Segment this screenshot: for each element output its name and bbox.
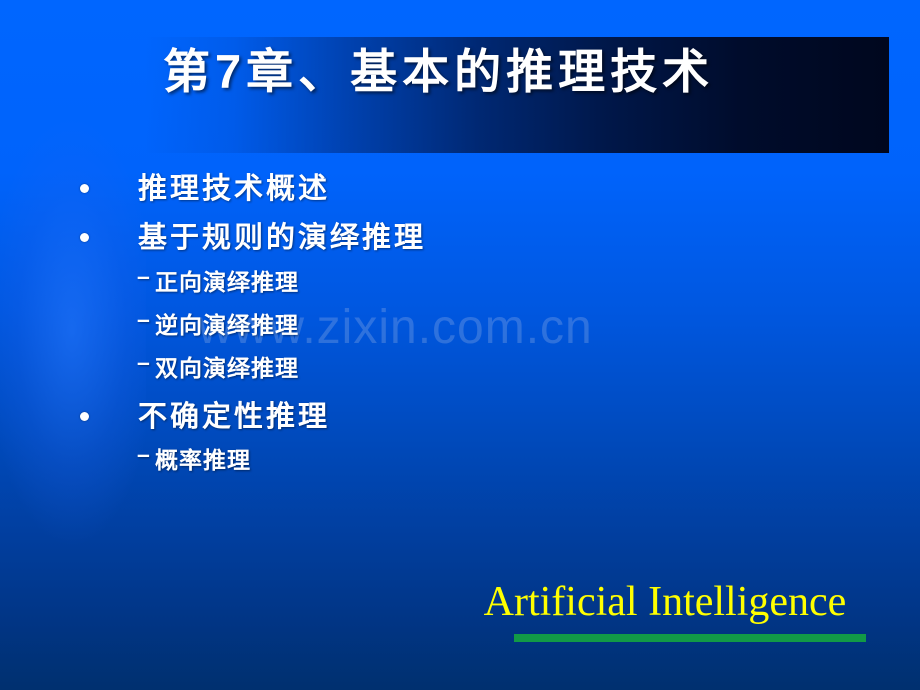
bullet-dash-icon: – bbox=[137, 441, 150, 468]
bullet-label-level2: 概率推理 bbox=[155, 441, 251, 475]
footer-course-title: Artificial Intelligence bbox=[440, 578, 890, 626]
bullet-label-level2: 逆向演绎推理 bbox=[155, 306, 299, 340]
bullet-dash-icon: – bbox=[137, 263, 150, 290]
left-decorative-band bbox=[0, 0, 146, 690]
bullet-dash-icon: – bbox=[137, 349, 150, 376]
footer-underline-bar bbox=[514, 634, 866, 642]
slide-title: 第7章、基本的推理技术 bbox=[163, 42, 883, 102]
bullet-label-level2: 双向演绎推理 bbox=[155, 349, 299, 383]
bullet-label-level1: 基于规则的演绎推理 bbox=[138, 214, 426, 256]
bullet-dot-icon bbox=[80, 233, 89, 242]
slide-canvas: 第7章、基本的推理技术 www.zixin.com.cn 推理技术概述 基于规则… bbox=[0, 0, 920, 690]
bullet-dash-icon: – bbox=[137, 306, 150, 333]
bullet-dot-icon bbox=[80, 412, 89, 421]
bullet-label-level1: 推理技术概述 bbox=[138, 165, 330, 207]
bullet-label-level2: 正向演绎推理 bbox=[155, 263, 299, 297]
bullet-label-level1: 不确定性推理 bbox=[138, 393, 330, 435]
bullet-dot-icon bbox=[80, 184, 89, 193]
